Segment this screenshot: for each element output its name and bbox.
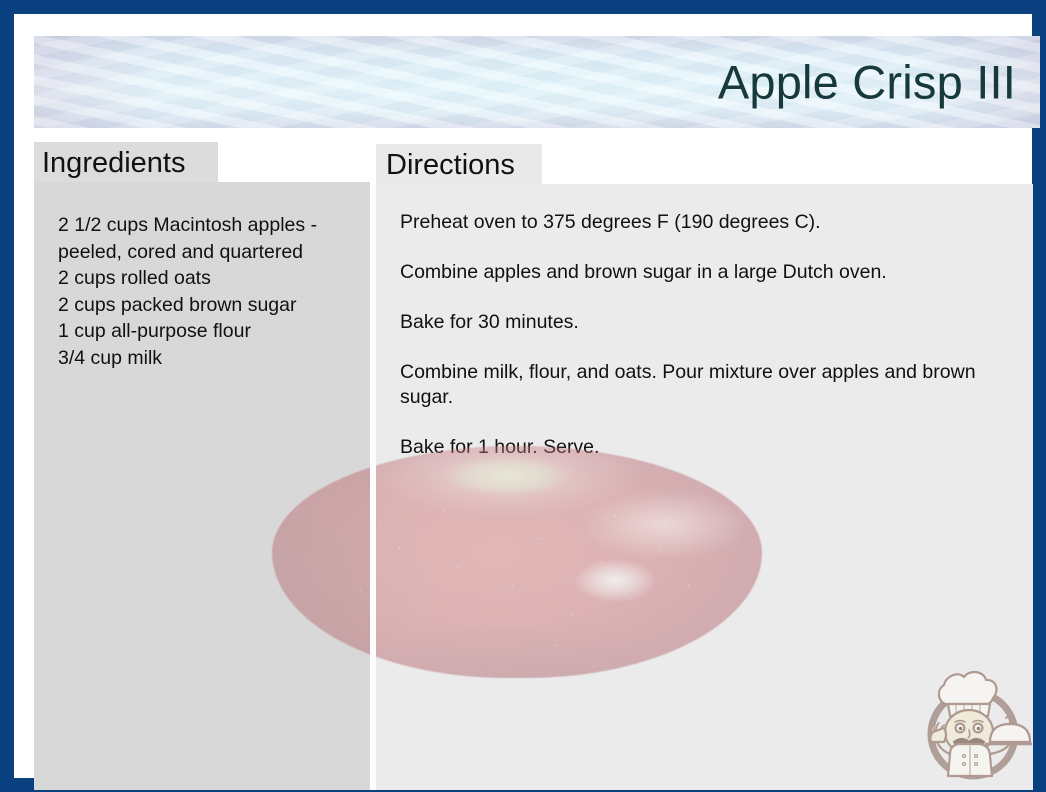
slide-inner-mat: Apple Crisp III Ingredients 2 1/2 cups M… bbox=[14, 14, 1032, 778]
direction-step: Bake for 1 hour. Serve. bbox=[400, 435, 1020, 460]
slide-header-banner: Apple Crisp III bbox=[34, 36, 1040, 128]
ingredients-list: 2 1/2 cups Macintosh apples - peeled, co… bbox=[58, 212, 358, 371]
direction-step: Combine milk, flour, and oats. Pour mixt… bbox=[400, 360, 1020, 410]
section-heading-ingredients: Ingredients bbox=[34, 142, 218, 184]
ingredients-heading-label: Ingredients bbox=[42, 149, 186, 178]
direction-step: Bake for 30 minutes. bbox=[400, 310, 1020, 335]
section-heading-directions: Directions bbox=[376, 144, 542, 186]
direction-step: Combine apples and brown sugar in a larg… bbox=[400, 260, 1020, 285]
recipe-slide: Apple Crisp III Ingredients 2 1/2 cups M… bbox=[0, 0, 1046, 792]
directions-heading-label: Directions bbox=[386, 151, 515, 180]
ingredients-panel: 2 1/2 cups Macintosh apples - peeled, co… bbox=[34, 182, 370, 790]
panel-divider bbox=[370, 184, 376, 790]
direction-step: Preheat oven to 375 degrees F (190 degre… bbox=[400, 210, 1020, 235]
page-title: Apple Crisp III bbox=[718, 59, 1016, 106]
directions-list: Preheat oven to 375 degrees F (190 degre… bbox=[400, 210, 1020, 485]
chef-mascot-logo bbox=[914, 658, 1032, 786]
